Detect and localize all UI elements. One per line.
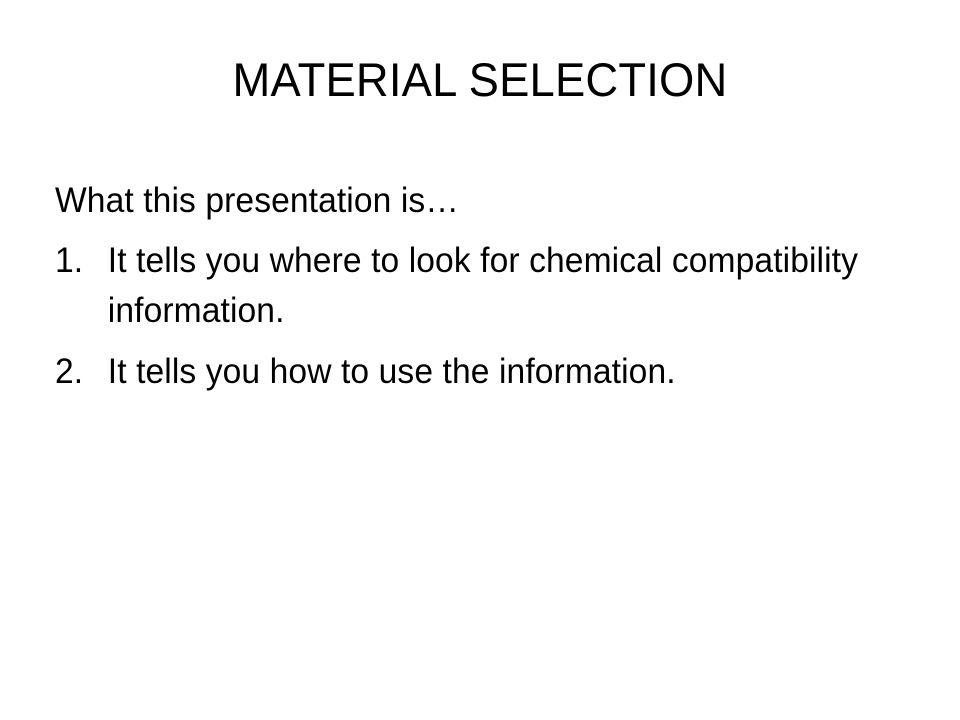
list-item: 2. It tells you how to use the informati… (55, 347, 881, 397)
list-item-marker: 2. (55, 347, 99, 397)
list-item-text: It tells you how to use the information. (108, 347, 881, 397)
list-item: 1. It tells you where to look for chemic… (55, 236, 881, 336)
list-item-text: It tells you where to look for chemical … (108, 236, 881, 336)
page-title: MATERIAL SELECTION (17, 52, 943, 108)
slide-body-content: What this presentation is… 1. It tells y… (55, 176, 915, 397)
lead-in-text: What this presentation is… (55, 176, 881, 226)
numbered-list: 1. It tells you where to look for chemic… (55, 236, 915, 397)
list-item-marker: 1. (55, 236, 99, 286)
slide-canvas: MATERIAL SELECTION What this presentatio… (0, 0, 960, 720)
